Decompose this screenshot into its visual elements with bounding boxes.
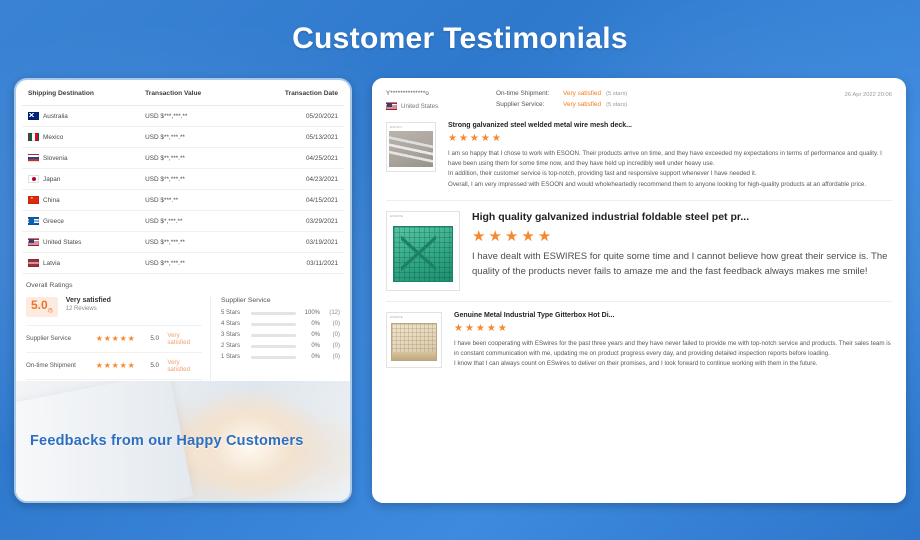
metric-label: On-time Shipment:	[496, 90, 558, 97]
cell-transaction-date: 04/25/2021	[243, 148, 344, 169]
column-header-transaction-date: Transaction Date	[243, 80, 344, 106]
page-title: Customer Testimonials	[0, 22, 920, 56]
criterion-row: On-time Shipment★★★★★5.0Very satisfied	[26, 352, 202, 379]
review-date: 26 Apr 2022 20:06	[746, 90, 892, 98]
bar-track	[251, 312, 296, 315]
cell-destination: Latvia	[22, 253, 143, 274]
metric-value: Very satisfied	[563, 101, 601, 108]
criterion-name: Supplier Service	[26, 335, 96, 342]
bar-count: (0)	[324, 321, 340, 327]
product-thumb-wire-mesh-deck[interactable]: ESOON	[386, 122, 436, 172]
review-paragraph: I know that I can always count on ESwire…	[454, 359, 892, 369]
table-row: GreeceUSD $*,***.**03/29/2021	[22, 211, 344, 232]
cell-transaction-date: 03/19/2021	[243, 232, 344, 253]
cell-transaction-value: USD $**,***.**	[143, 148, 243, 169]
bar-percent: 0%	[300, 343, 320, 349]
flag-japan-icon	[28, 175, 39, 183]
review-paragraph: I have dealt with ESWIRES for quite some…	[472, 250, 892, 279]
bar-label: 5 Stars	[221, 310, 247, 316]
review-item: ESWIRE Genuine Metal Industrial Type Git…	[386, 312, 892, 370]
breakdown-bar-row: 3 Stars0%(0)	[221, 332, 340, 338]
table-row: SloveniaUSD $**,***.**04/25/2021	[22, 148, 344, 169]
transactions-and-ratings-panel: Shipping Destination Transaction Value T…	[14, 78, 352, 503]
metric-label: Supplier Service:	[496, 101, 558, 108]
review-item: ESWIRE High quality galvanized industria…	[386, 211, 892, 291]
review-content: High quality galvanized industrial folda…	[472, 211, 892, 291]
criterion-row: Supplier Service★★★★★5.0Very satisfied	[26, 325, 202, 352]
thumb-image	[391, 323, 437, 361]
bar-count: (0)	[324, 332, 340, 338]
cell-transaction-date: 03/11/2021	[243, 253, 344, 274]
cell-destination: Australia	[22, 106, 143, 127]
criterion-label: Very satisfied	[167, 332, 202, 346]
thumb-watermark: ESOON	[390, 125, 402, 129]
metric-supplier-service: Supplier Service: Very satisfied (5 star…	[496, 101, 746, 108]
thumb-image	[393, 226, 453, 282]
bar-track	[251, 356, 296, 359]
cell-transaction-value: USD $***.**	[143, 190, 243, 211]
flag-mexico-icon	[28, 133, 39, 141]
flag-united-states-icon	[28, 238, 39, 246]
breakdown-bar-row: 2 Stars0%(0)	[221, 343, 340, 349]
transactions-table-body: AustraliaUSD $***,***.**05/20/2021Mexico…	[22, 106, 344, 274]
bar-percent: 0%	[300, 332, 320, 338]
column-header-shipping-destination: Shipping Destination	[22, 80, 143, 106]
reviewer-country: United States	[386, 102, 496, 110]
breakdown-bar-row: 1 Stars0%(0)	[221, 354, 340, 360]
bar-track	[251, 323, 296, 326]
overall-score-badge: 5.0/5	[26, 297, 58, 317]
cell-transaction-value: USD $**,***.**	[143, 232, 243, 253]
bar-count: (12)	[324, 310, 340, 316]
thumb-image	[389, 131, 433, 167]
score-row: 5.0/5 Very satisfied 12 Reviews	[26, 297, 202, 317]
transactions-table-wrap: Shipping Destination Transaction Value T…	[16, 80, 350, 274]
cell-destination: Mexico	[22, 127, 143, 148]
flag-greece-icon	[28, 217, 39, 225]
table-row: United StatesUSD $**,***.**03/19/2021	[22, 232, 344, 253]
cell-destination: Slovenia	[22, 148, 143, 169]
satisfaction-label: Very satisfied	[66, 297, 111, 304]
breakdown-bar-row: 5 Stars100%(12)	[221, 310, 340, 316]
score-meta: Very satisfied 12 Reviews	[66, 297, 111, 312]
flag-united-states-icon	[386, 102, 397, 110]
review-content: Genuine Metal Industrial Type Gitterbox …	[454, 312, 892, 370]
destination-label: Japan	[43, 176, 60, 183]
table-header-row: Shipping Destination Transaction Value T…	[22, 80, 344, 106]
bar-label: 1 Stars	[221, 354, 247, 360]
metric-on-time-shipment: On-time Shipment: Very satisfied (5 star…	[496, 90, 746, 97]
review-text: I have dealt with ESWIRES for quite some…	[472, 250, 892, 279]
breakdown-bars: 5 Stars100%(12)4 Stars0%(0)3 Stars0%(0)2…	[221, 310, 340, 360]
breakdown-title: Supplier Service	[221, 297, 340, 304]
table-row: AustraliaUSD $***,***.**05/20/2021	[22, 106, 344, 127]
flag-australia-icon	[28, 112, 39, 120]
bar-percent: 100%	[300, 310, 320, 316]
flag-latvia-icon	[28, 259, 39, 267]
breakdown-bar-row: 4 Stars0%(0)	[221, 321, 340, 327]
reviews-panel: Y**************o United States On-time S…	[372, 78, 906, 503]
destination-label: Australia	[43, 113, 68, 120]
table-row: ChinaUSD $***.**04/15/2021	[22, 190, 344, 211]
criterion-name: On-time Shipment	[26, 362, 96, 369]
cell-transaction-value: USD $**,***.**	[143, 127, 243, 148]
review-product-title[interactable]: Genuine Metal Industrial Type Gitterbox …	[454, 312, 892, 319]
criterion-score: 5.0	[150, 362, 167, 369]
review-divider	[386, 301, 892, 302]
bar-label: 4 Stars	[221, 321, 247, 327]
cell-destination: Greece	[22, 211, 143, 232]
bar-count: (0)	[324, 343, 340, 349]
cell-transaction-date: 05/13/2021	[243, 127, 344, 148]
destination-label: United States	[43, 239, 81, 246]
cell-transaction-value: USD $**,***.**	[143, 253, 243, 274]
cell-transaction-date: 05/20/2021	[243, 106, 344, 127]
product-thumb-green-foldable-cage[interactable]: ESWIRE	[386, 211, 460, 291]
review-paragraph: Overall, I am very impressed with ESOON …	[448, 180, 892, 190]
review-paragraph: I have been cooperating with ESwires for…	[454, 339, 892, 359]
review-stars: ★★★★★	[472, 227, 892, 245]
review-product-title[interactable]: High quality galvanized industrial folda…	[472, 211, 892, 223]
overall-ratings-heading: Overall Ratings	[26, 282, 340, 289]
cell-destination: China	[22, 190, 143, 211]
column-header-transaction-value: Transaction Value	[143, 80, 243, 106]
cell-transaction-date: 03/29/2021	[243, 211, 344, 232]
table-row: LatviaUSD $**,***.**03/11/2021	[22, 253, 344, 274]
table-row: MexicoUSD $**,***.**05/13/2021	[22, 127, 344, 148]
bar-count: (0)	[324, 354, 340, 360]
hero-caption: Feedbacks from our Happy Customers	[30, 433, 304, 449]
cell-destination: Japan	[22, 169, 143, 190]
reviews-count: 12 Reviews	[66, 306, 111, 312]
metric-value: Very satisfied	[563, 90, 601, 97]
destination-label: China	[43, 197, 60, 204]
bar-label: 2 Stars	[221, 343, 247, 349]
cell-transaction-date: 04/15/2021	[243, 190, 344, 211]
happy-customers-hero-image: Feedbacks from our Happy Customers	[16, 381, 350, 501]
review-item: ESOON Strong galvanized steel welded met…	[386, 122, 892, 190]
cell-transaction-value: USD $***,***.**	[143, 106, 243, 127]
review-text: I am so happy that I chose to work with …	[448, 149, 892, 190]
metric-detail: (5 stars)	[606, 102, 627, 108]
review-stars: ★★★★★	[448, 133, 892, 144]
bar-track	[251, 345, 296, 348]
transactions-table: Shipping Destination Transaction Value T…	[22, 80, 344, 274]
review-stars: ★★★★★	[454, 323, 892, 334]
destination-label: Latvia	[43, 260, 60, 267]
review-paragraph: I am so happy that I chose to work with …	[448, 149, 892, 169]
cell-destination: United States	[22, 232, 143, 253]
destination-label: Slovenia	[43, 155, 68, 162]
bar-percent: 0%	[300, 321, 320, 327]
transactions-table-head: Shipping Destination Transaction Value T…	[22, 80, 344, 106]
review-divider	[386, 200, 892, 201]
destination-label: Greece	[43, 218, 64, 225]
bar-percent: 0%	[300, 354, 320, 360]
review-metrics: On-time Shipment: Very satisfied (5 star…	[496, 90, 746, 112]
reviewer-country-label: United States	[401, 103, 438, 110]
overall-score-suffix: /5	[48, 308, 53, 314]
review-header: Y**************o United States On-time S…	[386, 90, 892, 112]
overall-score-value: 5.0	[31, 298, 48, 312]
criterion-score: 5.0	[150, 335, 167, 342]
destination-label: Mexico	[43, 134, 63, 141]
cell-transaction-value: USD $**,***.**	[143, 169, 243, 190]
flag-china-icon	[28, 196, 39, 204]
bar-label: 3 Stars	[221, 332, 247, 338]
criterion-stars: ★★★★★	[96, 334, 151, 343]
flag-slovenia-icon	[28, 154, 39, 162]
review-paragraph: In addition, their customer service is t…	[448, 169, 892, 179]
thumb-watermark: ESWIRE	[390, 214, 403, 218]
table-row: JapanUSD $**,***.**04/23/2021	[22, 169, 344, 190]
review-content: Strong galvanized steel welded metal wir…	[448, 122, 892, 190]
reviewer-identity: Y**************o United States	[386, 90, 496, 110]
review-product-title[interactable]: Strong galvanized steel welded metal wir…	[448, 122, 892, 129]
product-thumb-gitterbox[interactable]: ESWIRE	[386, 312, 442, 368]
metric-detail: (5 stars)	[606, 91, 627, 97]
bar-track	[251, 334, 296, 337]
review-text: I have been cooperating with ESwires for…	[454, 339, 892, 370]
thumb-watermark: ESWIRE	[390, 315, 403, 319]
criterion-stars: ★★★★★	[96, 361, 151, 370]
reviewer-name: Y**************o	[386, 90, 496, 97]
criterion-label: Very satisfied	[167, 359, 202, 373]
cell-transaction-date: 04/23/2021	[243, 169, 344, 190]
cell-transaction-value: USD $*,***.**	[143, 211, 243, 232]
